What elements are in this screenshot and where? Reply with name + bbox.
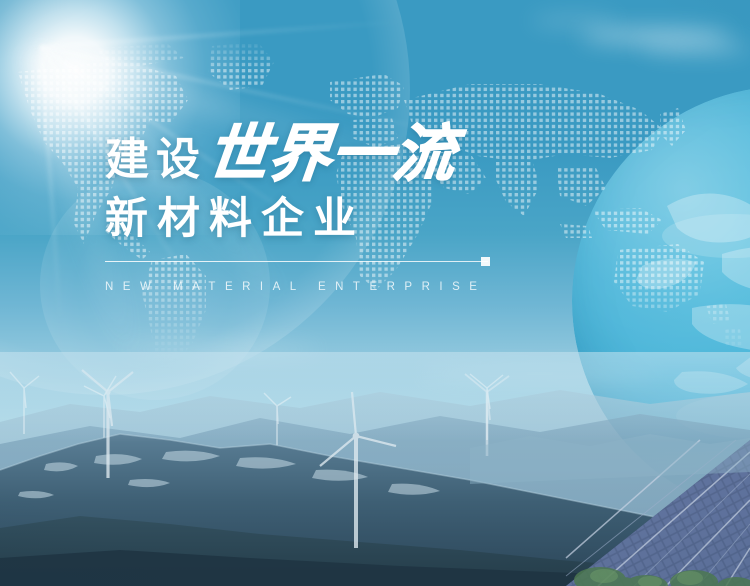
divider-rule <box>105 261 488 262</box>
divider-end-cap <box>481 257 490 266</box>
headline-block: 建设 世界一流 新材料企业 NEW MATERIAL ENTERPRISE <box>105 125 535 293</box>
headline-emphasis-text: 世界一流 <box>204 125 458 185</box>
cloud <box>530 16 620 26</box>
headline-line-2: 新材料企业 <box>105 198 535 241</box>
hero-banner: 建设 世界一流 新材料企业 NEW MATERIAL ENTERPRISE <box>0 0 750 586</box>
subtitle-text: NEW MATERIAL ENTERPRISE <box>105 281 535 293</box>
landscape-photo <box>0 352 750 586</box>
headline-line-1: 建设 世界一流 <box>105 125 535 185</box>
headline-normal-text: 建设 <box>105 138 207 185</box>
